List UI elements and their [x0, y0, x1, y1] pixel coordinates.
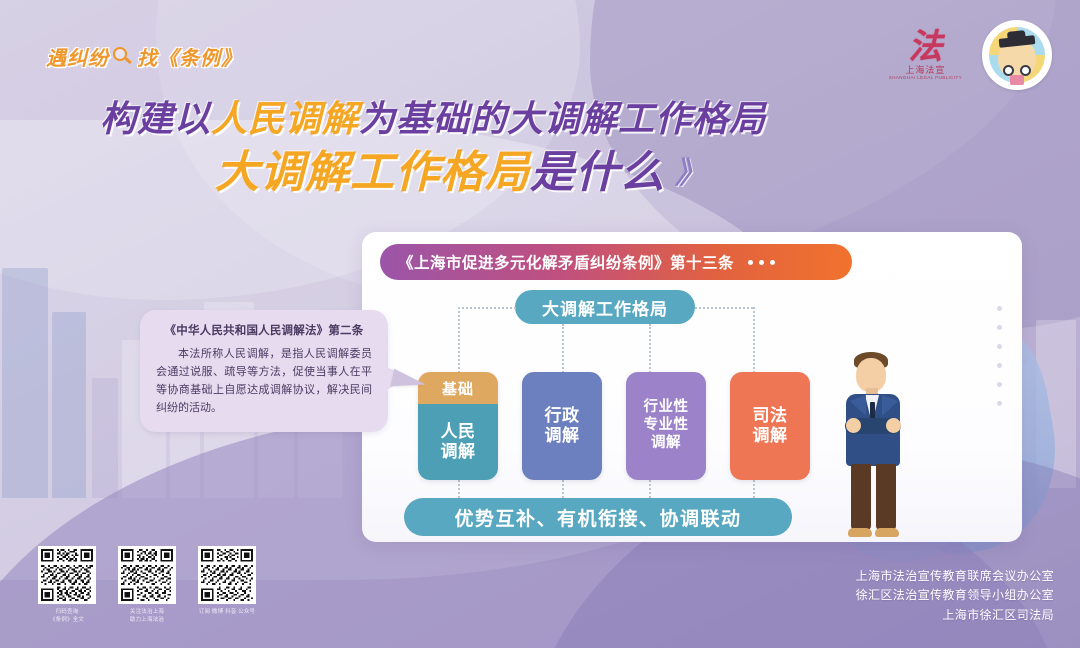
organization-line-2: 徐汇区法治宣传教育领导小组办公室 [856, 586, 1054, 606]
qr-media-channels-image[interactable] [198, 546, 256, 604]
mediation-node-administrative[interactable]: 行政 调解 [522, 372, 602, 480]
qr-code-list: 扫码查询 《条例》全文 [38, 546, 256, 625]
mediation-node-industry-line3: 调解 [651, 435, 681, 453]
qr-regulation-fulltext-caption: 扫码查询 《条例》全文 [38, 608, 96, 625]
magnifier-icon [112, 46, 134, 68]
law-definition-body: 本法所称人民调解，是指人民调解委员会通过说服、疏导等方法，促使当事人在平等协商基… [156, 345, 372, 418]
mediation-node-people-label: 人民 调解 [418, 404, 498, 480]
mediation-node-judicial-label: 司法 调解 [730, 372, 810, 480]
organization-line-1: 上海市法治宣传教育联席会议办公室 [856, 567, 1054, 587]
qr-follow-shanghai-law-caption: 关注法治上海 助力上海法治 [118, 608, 176, 625]
qr-caption-line1: 订阅 微博 抖音 公众号 [198, 608, 256, 616]
legal-mascot-icon [982, 20, 1052, 90]
headline-line2-suffix: 是什么 [530, 148, 665, 197]
connector-root-left [458, 307, 516, 309]
connector-down-2 [562, 324, 564, 373]
connector-down-3 [649, 324, 651, 373]
mediation-node-administrative-line1: 行政 [545, 406, 580, 426]
mediation-node-industry-line2: 专业性 [644, 417, 689, 435]
organization-line-3: 上海市徐汇区司法局 [856, 606, 1054, 626]
organization-footer: 上海市法治宣传教育联席会议办公室 徐汇区法治宣传教育领导小组办公室 上海市徐汇区… [856, 567, 1054, 626]
law-logo-en-name: SHANGHAI LEGAL PUBLICITY [889, 76, 962, 81]
mediation-node-judicial-line1: 司法 [753, 406, 788, 426]
campaign-badge-text-before: 遇纠纷 [46, 42, 109, 71]
page-title: 构建以人民调解为基础的大调解工作格局 大调解工作格局是什么》 [0, 96, 1080, 203]
mediation-node-judicial-line2: 调解 [753, 426, 788, 446]
mediation-node-people[interactable]: 基础 人民 调解 [418, 372, 498, 480]
qr-follow-shanghai-law[interactable]: 关注法治上海 助力上海法治 [118, 546, 176, 625]
mediation-node-industry-label: 行业性 专业性 调解 [626, 372, 706, 480]
headline-line1-highlight: 人民调解 [211, 98, 359, 139]
campaign-badge-text-after: 找《条例》 [137, 42, 242, 71]
headline-line-2: 大调解工作格局是什么》 [0, 144, 1080, 203]
connector-down-1 [458, 307, 460, 373]
shanghai-law-publicity-logo: 法 上海法宣 SHANGHAI LEGAL PUBLICITY [889, 30, 962, 81]
mediation-node-administrative-line2: 调解 [545, 426, 580, 446]
chevron-right-icon: 》 [675, 157, 706, 190]
mediation-structure-diagram: 大调解工作格局 基础 人民 调解 [362, 290, 1022, 540]
mediation-node-list: 基础 人民 调解 行政 调解 行业性 专业性 [418, 372, 810, 480]
qr-media-channels-caption: 订阅 微博 抖音 公众号 [198, 608, 256, 616]
mediation-node-judicial[interactable]: 司法 调解 [730, 372, 810, 480]
mediation-node-industry[interactable]: 行业性 专业性 调解 [626, 372, 706, 480]
law-definition-title: 《中华人民共和国人民调解法》第二条 [156, 322, 372, 338]
law-logo-cn-name: 上海法宣 [889, 66, 962, 75]
qr-follow-shanghai-law-image[interactable] [118, 546, 176, 604]
law-definition-callout: 《中华人民共和国人民调解法》第二条 本法所称人民调解，是指人民调解委员会通过说服… [140, 310, 388, 432]
qr-caption-line1: 关注法治上海 [118, 608, 176, 616]
qr-caption-line2: 《条例》全文 [38, 616, 96, 624]
qr-regulation-fulltext-image[interactable] [38, 546, 96, 604]
qr-media-channels[interactable]: 订阅 微博 抖音 公众号 [198, 546, 256, 625]
banner-dots-icon [748, 260, 775, 265]
mediation-node-industry-line1: 行业性 [644, 399, 689, 417]
poster-canvas: 遇纠纷 找《条例》 法 上海法宣 SHANGHAI LEGAL PUBLICIT… [0, 0, 1080, 648]
logo-group: 法 上海法宣 SHANGHAI LEGAL PUBLICITY [889, 20, 1052, 90]
businessman-illustration [828, 352, 920, 540]
regulation-banner-title: 《上海市促进多元化解矛盾纠纷条例》第十三条 [398, 251, 734, 273]
headline-line-1: 构建以人民调解为基础的大调解工作格局 [0, 96, 1080, 142]
mediation-node-administrative-label: 行政 调解 [522, 372, 602, 480]
qr-caption-line1: 扫码查询 [38, 608, 96, 616]
headline-line2-highlight: 大调解工作格局 [215, 148, 530, 197]
law-character-mark: 法 [889, 30, 962, 64]
diagram-principles-bar: 优势互补、有机衔接、协调联动 [404, 498, 792, 536]
connector-root-right [695, 307, 753, 309]
mediation-node-people-line2: 调解 [441, 442, 476, 462]
content-card: 《上海市促进多元化解矛盾纠纷条例》第十三条 大调解工作格局 基础 [362, 232, 1022, 542]
qr-regulation-fulltext[interactable]: 扫码查询 《条例》全文 [38, 546, 96, 625]
qr-caption-line2: 助力上海法治 [118, 616, 176, 624]
mediation-node-people-tag: 基础 [418, 372, 498, 404]
mediation-node-people-line1: 人民 [441, 422, 476, 442]
regulation-banner: 《上海市促进多元化解矛盾纠纷条例》第十三条 [380, 244, 852, 280]
campaign-badge: 遇纠纷 找《条例》 [36, 38, 252, 75]
diagram-root-node: 大调解工作格局 [515, 290, 695, 324]
connector-down-4 [753, 307, 755, 373]
headline-line1-suffix: 为基础的大调解工作格局 [359, 98, 766, 139]
headline-line1-prefix: 构建以 [100, 98, 211, 139]
